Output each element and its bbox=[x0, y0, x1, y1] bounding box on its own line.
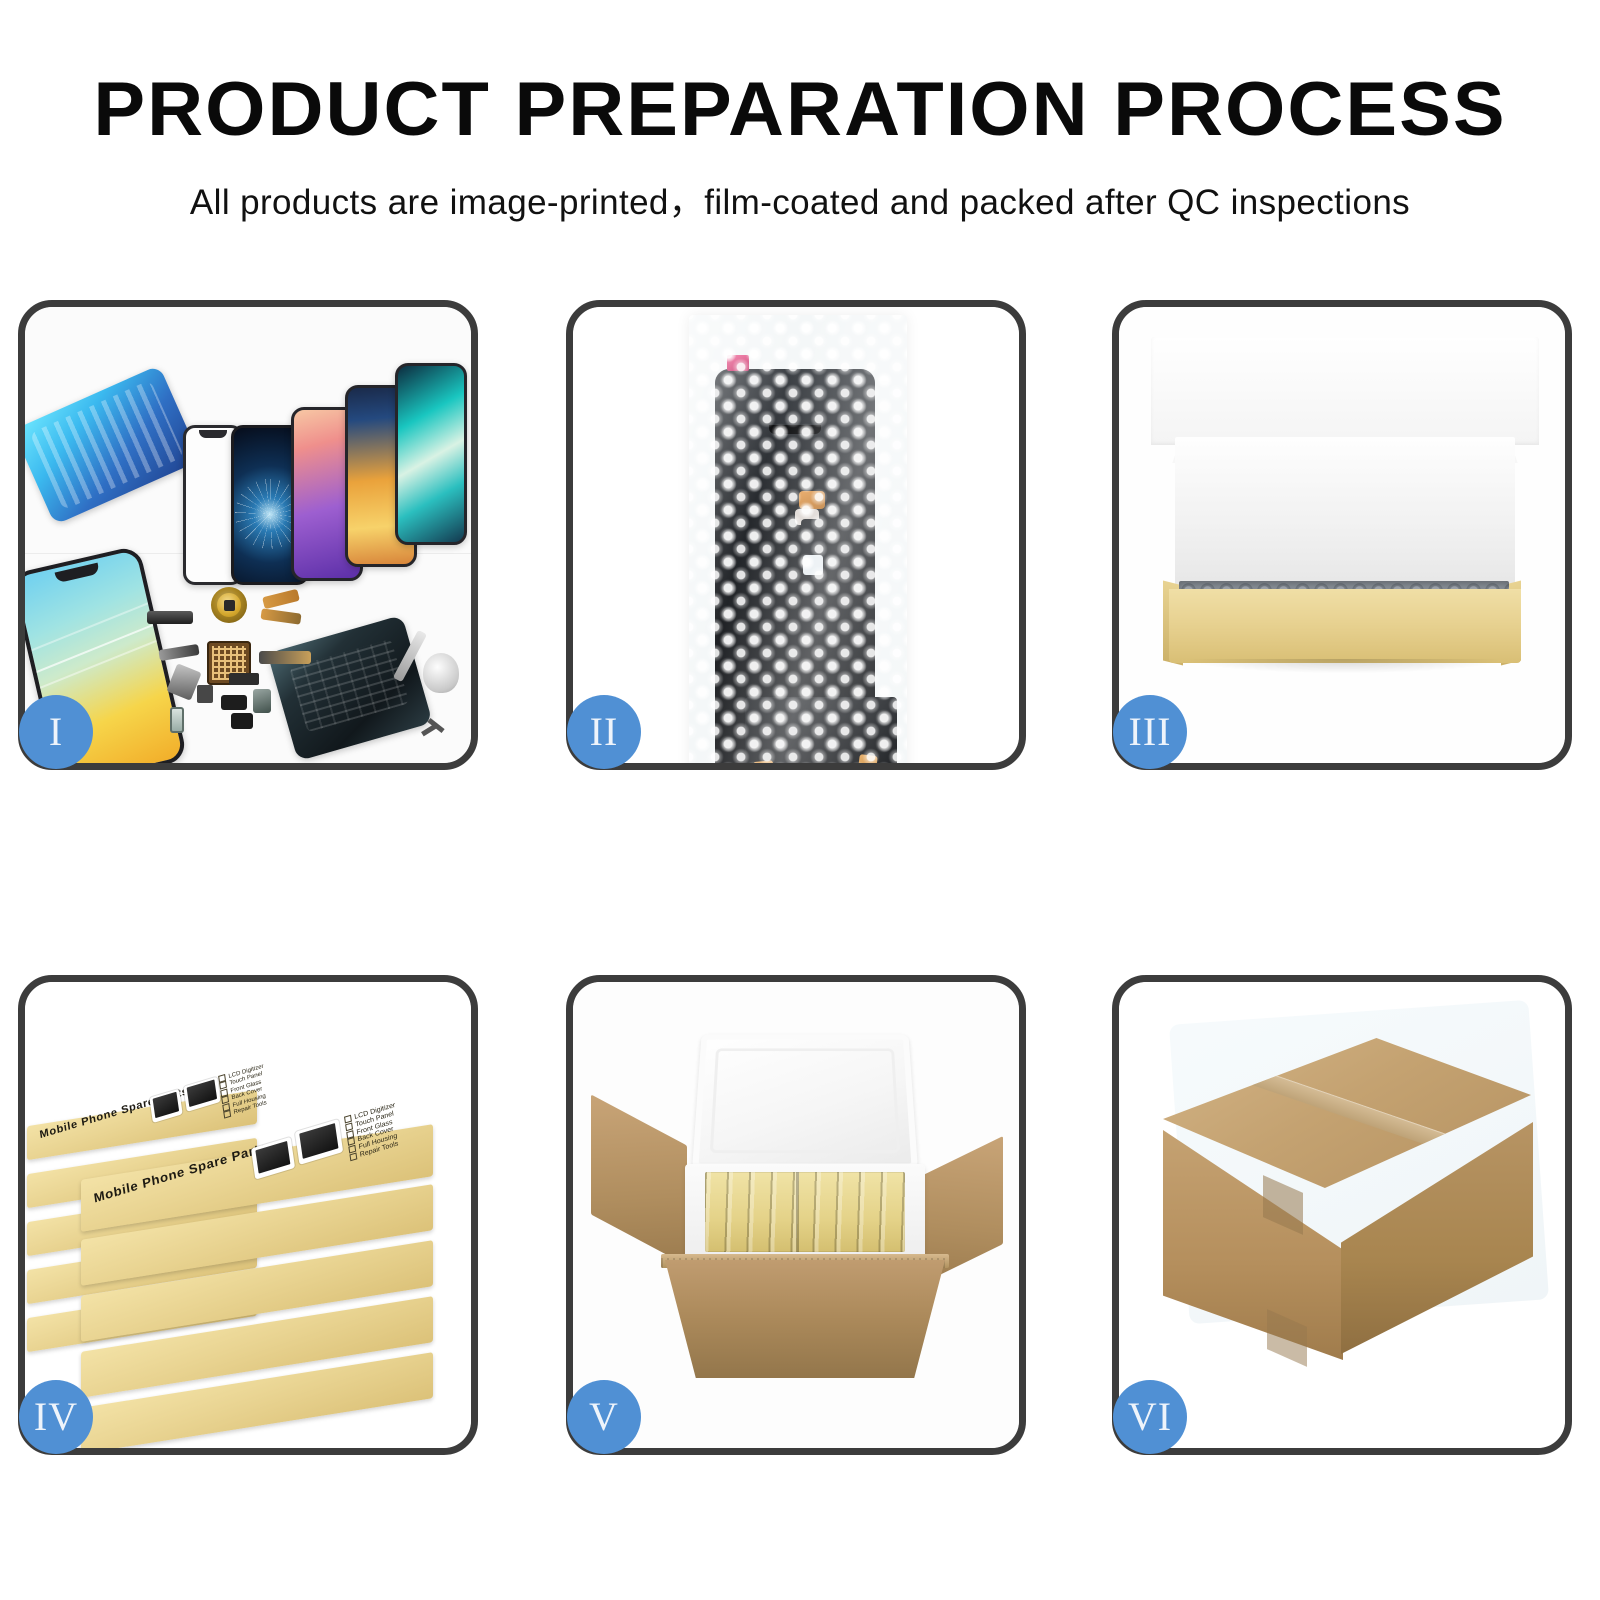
process-step-2[interactable]: II bbox=[566, 300, 1026, 770]
step-badge-5: V bbox=[567, 1380, 641, 1454]
adhesive-sticker bbox=[25, 365, 201, 525]
step-badge-4: IV bbox=[19, 1380, 93, 1454]
box-foam-liner bbox=[1175, 437, 1515, 587]
plastic-sheen-overlay bbox=[689, 315, 907, 763]
retail-box-checklist-back: LCD Digitizer Touch Panel Front Glass Ba… bbox=[218, 1063, 269, 1120]
flex-cable-part-3 bbox=[259, 651, 311, 664]
retail-box-checklist-front: LCD Digitizer Touch Panel Front Glass Ba… bbox=[344, 1102, 401, 1162]
spare-parts-scene bbox=[25, 307, 471, 763]
sim-tray-part bbox=[170, 707, 184, 733]
step-3-image bbox=[1119, 307, 1565, 763]
step-1-image bbox=[25, 307, 471, 763]
step-6-image bbox=[1119, 982, 1565, 1448]
packed-boxes-divider bbox=[796, 1172, 799, 1252]
process-step-3[interactable]: III bbox=[1112, 300, 1572, 770]
step-badge-1: I bbox=[19, 695, 93, 769]
box-lid-open bbox=[1151, 337, 1539, 445]
packed-retail-boxes bbox=[705, 1172, 905, 1252]
stacked-retail-boxes-scene: Mobile Phone Spare Parts LCD Digitizer T… bbox=[25, 982, 471, 1448]
step-badge-6: VI bbox=[1113, 1380, 1187, 1454]
page-title: PRODUCT PREPARATION PROCESS bbox=[0, 72, 1600, 148]
sealed-carton-scene bbox=[1119, 982, 1565, 1448]
box-stack: Mobile Phone Spare Parts LCD Digitizer T… bbox=[25, 1000, 471, 1440]
carton-left-flap bbox=[591, 1094, 687, 1265]
page-header: PRODUCT PREPARATION PROCESS All products… bbox=[0, 0, 1600, 225]
small-component-1 bbox=[229, 673, 259, 685]
process-step-6[interactable]: VI bbox=[1112, 975, 1572, 1455]
bubble-wrap-pouch bbox=[689, 315, 907, 763]
box-drop-shadow bbox=[1189, 659, 1499, 673]
camera-module-part bbox=[253, 689, 271, 713]
process-step-4[interactable]: Mobile Phone Spare Parts LCD Digitizer T… bbox=[18, 975, 478, 1455]
small-component-3 bbox=[231, 713, 253, 729]
process-step-grid: I bbox=[0, 0, 1600, 1600]
retail-box-thumb-back-2 bbox=[183, 1077, 220, 1112]
step-badge-3: III bbox=[1113, 695, 1187, 769]
process-step-1[interactable]: I bbox=[18, 300, 478, 770]
process-step-5[interactable]: V bbox=[566, 975, 1026, 1455]
box-front-wall bbox=[1169, 589, 1521, 663]
step-5-image bbox=[573, 982, 1019, 1448]
step-badge-2: II bbox=[567, 695, 641, 769]
phone-teal-display bbox=[395, 363, 467, 545]
small-component-2 bbox=[197, 685, 213, 703]
cleaning-brush-tool bbox=[423, 653, 459, 693]
earpiece-speaker-part bbox=[147, 611, 193, 624]
step-2-image bbox=[573, 307, 1019, 763]
carton-with-foam-cooler-scene bbox=[573, 982, 1019, 1448]
retail-box-thumb-front-2 bbox=[295, 1119, 343, 1165]
step-4-image: Mobile Phone Spare Parts LCD Digitizer T… bbox=[25, 982, 471, 1448]
open-mailer-box-scene bbox=[1119, 307, 1565, 763]
bubble-wrapped-screen-scene bbox=[573, 307, 1019, 763]
page-subtitle: All products are image-printed，film-coat… bbox=[0, 174, 1600, 225]
foam-cooler-lid bbox=[692, 1034, 918, 1169]
carton-front-wall bbox=[665, 1260, 945, 1378]
wireless-charging-coil-part bbox=[211, 587, 247, 623]
phone-back-housing-board bbox=[267, 615, 432, 761]
ribbon-cable-part bbox=[158, 644, 199, 661]
button-module-part bbox=[221, 695, 247, 710]
flex-cable-part-2 bbox=[260, 608, 301, 624]
flex-cable-part-1 bbox=[262, 589, 300, 609]
